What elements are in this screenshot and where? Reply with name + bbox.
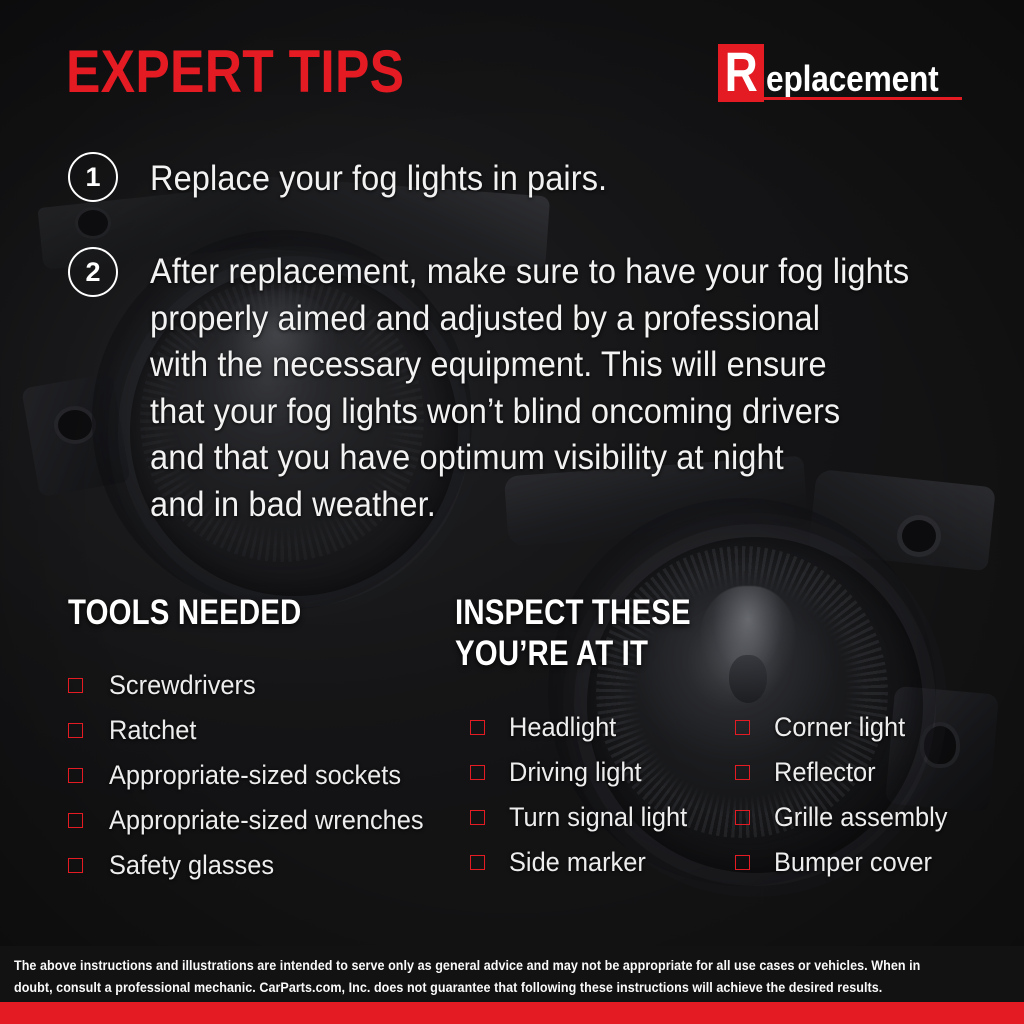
list-item-label: Ratchet: [109, 717, 196, 744]
list-item[interactable]: Headlight: [470, 705, 699, 750]
list-item-label: Turn signal light: [509, 804, 687, 831]
list-item[interactable]: Corner light: [735, 705, 959, 750]
bottom-red-bar: [0, 1002, 1024, 1024]
checkbox-icon[interactable]: [470, 810, 485, 825]
list-item[interactable]: Bumper cover: [735, 840, 959, 885]
tip-text-2: After replacement, make sure to have you…: [150, 247, 909, 528]
tip-item-2: 2 After replacement, make sure to have y…: [68, 247, 966, 528]
tip-number-badge-2: 2: [68, 247, 118, 297]
list-item-label: Grille assembly: [774, 804, 947, 831]
replacement-logo: R eplacement: [718, 38, 962, 102]
checkbox-icon[interactable]: [470, 720, 485, 735]
expert-tips-infographic: EXPERT TIPS R eplacement 1 Replace your …: [0, 0, 1024, 1024]
checkbox-icon[interactable]: [68, 723, 83, 738]
list-item-label: Reflector: [774, 759, 876, 786]
tools-checklist: Screwdrivers Ratchet Appropriate-sized s…: [68, 663, 444, 888]
list-item-label: Driving light: [509, 759, 642, 786]
list-item[interactable]: Screwdrivers: [68, 663, 444, 708]
checkbox-icon[interactable]: [470, 765, 485, 780]
list-item[interactable]: Side marker: [470, 840, 699, 885]
list-item-label: Appropriate-sized sockets: [109, 762, 401, 789]
inspect-checklist-column-left: Headlight Driving light Turn signal ligh…: [470, 705, 699, 885]
list-item[interactable]: Appropriate-sized sockets: [68, 753, 444, 798]
tip-text-1: Replace your fog lights in pairs.: [150, 152, 607, 203]
list-item-label: Screwdrivers: [109, 672, 256, 699]
logo-wordmark: eplacement: [766, 61, 939, 102]
list-item-label: Appropriate-sized wrenches: [109, 807, 424, 834]
list-item-label: Corner light: [774, 714, 905, 741]
list-item[interactable]: Turn signal light: [470, 795, 699, 840]
list-item-label: Side marker: [509, 849, 646, 876]
list-item[interactable]: Grille assembly: [735, 795, 959, 840]
footer-disclaimer: The above instructions and illustrations…: [14, 955, 940, 999]
list-item[interactable]: Appropriate-sized wrenches: [68, 798, 444, 843]
list-item-label: Bumper cover: [774, 849, 932, 876]
tip-item-1: 1 Replace your fog lights in pairs.: [68, 152, 642, 203]
infographic-content: EXPERT TIPS R eplacement 1 Replace your …: [0, 0, 1024, 1024]
page-title: EXPERT TIPS: [66, 42, 404, 102]
checkbox-icon[interactable]: [735, 765, 750, 780]
checkbox-icon[interactable]: [735, 855, 750, 870]
checkbox-icon[interactable]: [735, 720, 750, 735]
list-item[interactable]: Reflector: [735, 750, 959, 795]
logo-red-badge: R: [718, 44, 764, 102]
inspect-section-heading: INSPECT THESE YOU’RE AT IT: [455, 593, 691, 674]
checkbox-icon[interactable]: [470, 855, 485, 870]
tip-number-badge-1: 1: [68, 152, 118, 202]
inspect-checklist-column-right: Corner light Reflector Grille assembly B…: [735, 705, 959, 885]
list-item[interactable]: Safety glasses: [68, 843, 444, 888]
list-item-label: Headlight: [509, 714, 616, 741]
list-item-label: Safety glasses: [109, 852, 274, 879]
checkbox-icon[interactable]: [68, 858, 83, 873]
tools-section-heading: TOOLS NEEDED: [68, 593, 301, 634]
checkbox-icon[interactable]: [68, 768, 83, 783]
logo-badge-letter: R: [724, 44, 757, 100]
list-item[interactable]: Ratchet: [68, 708, 444, 753]
checkbox-icon[interactable]: [68, 678, 83, 693]
logo-underline: [764, 97, 962, 100]
checkbox-icon[interactable]: [68, 813, 83, 828]
checkbox-icon[interactable]: [735, 810, 750, 825]
list-item[interactable]: Driving light: [470, 750, 699, 795]
